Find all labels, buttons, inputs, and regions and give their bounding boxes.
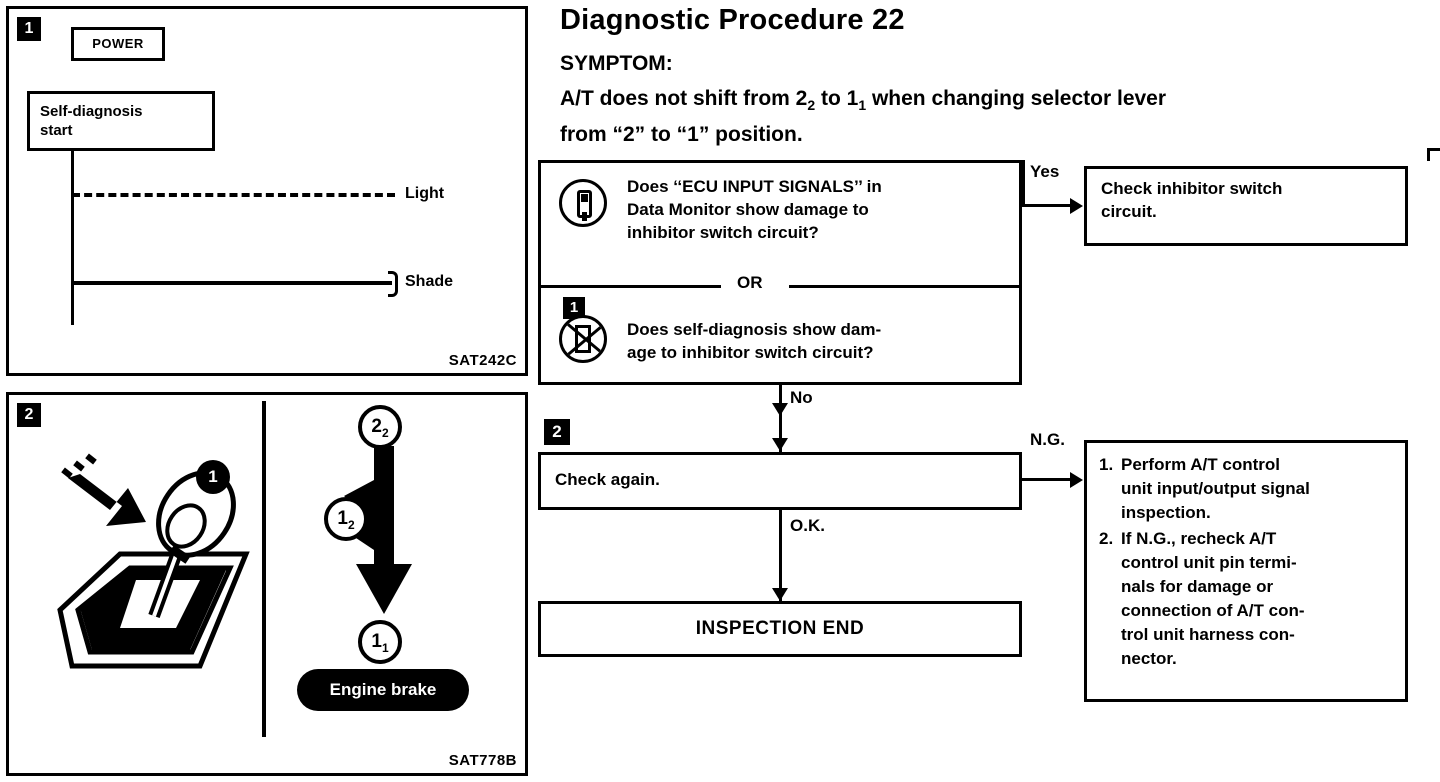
gear-from-sub: 2 bbox=[382, 426, 389, 440]
ok-label: O.K. bbox=[790, 516, 825, 536]
ng-actions-list: 1. Perform A/T control unit input/output… bbox=[1087, 443, 1405, 671]
panel-2-divider bbox=[262, 401, 266, 737]
timing-vertical-stem bbox=[71, 151, 74, 325]
yes-branch-vertical bbox=[1022, 160, 1025, 206]
symptom-label: SYMPTOM: bbox=[560, 52, 673, 76]
panel-2-badge: 2 bbox=[17, 403, 41, 427]
gear-to: 1 bbox=[371, 631, 382, 652]
gear-badge-1-1: 11 bbox=[358, 620, 402, 664]
illustration-panel-1: 1 POWER Self-diagnosis start Light Shade… bbox=[6, 6, 528, 376]
engine-brake-label: Engine brake bbox=[297, 669, 469, 711]
symptom-text: A/T does not shift from 22 to 11 when ch… bbox=[560, 84, 1440, 150]
ng-branch-horizontal bbox=[1022, 478, 1072, 481]
symptom-part-a: A/T does not shift from 2 bbox=[560, 87, 807, 110]
consult-question-line2: Data Monitor show damage to bbox=[627, 198, 1007, 221]
consult-tool-screen bbox=[581, 194, 588, 202]
symptom-sub-2: 1 bbox=[858, 97, 866, 113]
decision-box: Does ‘‘ECU INPUT SIGNALS’’ in Data Monit… bbox=[538, 160, 1022, 385]
no-label: No bbox=[790, 388, 813, 408]
symptom-sub-1: 2 bbox=[807, 97, 815, 113]
ng-label: N.G. bbox=[1030, 430, 1065, 450]
list-item: 2. If N.G., recheck A/T control unit pin… bbox=[1099, 527, 1395, 671]
check-inhibitor-line2: circuit. bbox=[1101, 200, 1405, 223]
no-branch-arrowhead-lower bbox=[772, 438, 788, 451]
ng-branch-arrowhead bbox=[1070, 472, 1083, 488]
shade-waveform-line bbox=[72, 281, 392, 285]
or-rule-right bbox=[789, 285, 1019, 288]
consult-question: Does ‘‘ECU INPUT SIGNALS’’ in Data Monit… bbox=[627, 175, 1007, 244]
symptom-part-b: to 1 bbox=[815, 87, 858, 110]
push-arrow-icon bbox=[61, 454, 146, 526]
self-diagnosis-icon bbox=[559, 315, 607, 363]
ng-item-2-text: If N.G., recheck A/T control unit pin te… bbox=[1121, 527, 1305, 671]
or-rule-left bbox=[541, 285, 721, 288]
gear-mid-sub: 2 bbox=[348, 518, 355, 532]
or-label: OR bbox=[737, 273, 763, 293]
consult-question-line1: Does ‘‘ECU INPUT SIGNALS’’ in bbox=[627, 175, 1007, 198]
inspection-end-text: INSPECTION END bbox=[541, 604, 1019, 654]
ng-item-1-line1: Perform A/T control bbox=[1121, 455, 1280, 474]
light-waveform-line bbox=[72, 193, 395, 197]
check-again-box: Check again. bbox=[538, 452, 1022, 510]
symptom-line-2: from “2” to “1” position. bbox=[560, 120, 1440, 150]
ng-item-2-line6: nector. bbox=[1121, 649, 1177, 668]
shade-bracket-tick bbox=[388, 271, 398, 297]
step-marker-1: 1 bbox=[196, 460, 230, 494]
ng-item-2-line4: connection of A/T con- bbox=[1121, 601, 1305, 620]
consult-tool-plug bbox=[582, 212, 587, 221]
check-inhibitor-switch-box: Check inhibitor switch circuit. bbox=[1084, 166, 1408, 246]
figure-code-1: SAT242C bbox=[449, 352, 517, 369]
self-diagnosis-question-line1: Does self-diagnosis show dam- bbox=[627, 318, 1012, 341]
ng-item-2-line2: control unit pin termi- bbox=[1121, 553, 1297, 572]
ok-branch-arrowhead bbox=[772, 588, 788, 601]
page-title: Diagnostic Procedure 22 bbox=[560, 4, 905, 37]
consult-tool-icon bbox=[559, 179, 607, 227]
panel-1-badge: 1 bbox=[17, 17, 41, 41]
self-diagnosis-start-box: Self-diagnosis start bbox=[27, 91, 215, 151]
ng-item-2-line3: nals for damage or bbox=[1121, 577, 1273, 596]
consult-question-line3: inhibitor switch circuit? bbox=[627, 221, 1007, 244]
or-separator: OR bbox=[541, 273, 1019, 299]
ng-item-2-line5: trol unit harness con- bbox=[1121, 625, 1295, 644]
gear-from: 2 bbox=[371, 416, 382, 437]
self-diagnosis-start-line2: start bbox=[40, 121, 212, 140]
gear-badge-2-2: 22 bbox=[358, 405, 402, 449]
no-branch-arrowhead-upper bbox=[772, 403, 788, 416]
ng-item-1-line3: inspection. bbox=[1121, 503, 1211, 522]
self-diagnosis-question: Does self-diagnosis show dam- age to inh… bbox=[627, 318, 1012, 364]
gear-mid: 1 bbox=[337, 508, 348, 529]
yes-label: Yes bbox=[1030, 162, 1059, 182]
check-inhibitor-line1: Check inhibitor switch bbox=[1101, 177, 1405, 200]
inspection-end-box: INSPECTION END bbox=[538, 601, 1022, 657]
check-inhibitor-switch-text: Check inhibitor switch circuit. bbox=[1087, 169, 1405, 223]
step-2-badge: 2 bbox=[544, 419, 570, 445]
self-diagnosis-question-line2: age to inhibitor switch circuit? bbox=[627, 341, 1012, 364]
ng-item-2-line1: If N.G., recheck A/T bbox=[1121, 529, 1276, 548]
ng-item-2-number: 2. bbox=[1099, 527, 1121, 671]
list-item: 1. Perform A/T control unit input/output… bbox=[1099, 453, 1395, 525]
figure-code-2: SAT778B bbox=[449, 752, 517, 769]
ng-item-1-line2: unit input/output signal bbox=[1121, 479, 1310, 498]
gear-to-sub: 1 bbox=[382, 641, 389, 655]
gear-badge-1-2: 12 bbox=[324, 497, 368, 541]
self-diagnosis-start-line1: Self-diagnosis bbox=[40, 102, 212, 121]
ng-item-1-number: 1. bbox=[1099, 453, 1121, 525]
registration-tick-v bbox=[1427, 148, 1430, 161]
power-label-box: POWER bbox=[71, 27, 165, 61]
service-manual-page: 1 POWER Self-diagnosis start Light Shade… bbox=[0, 0, 1440, 782]
yes-branch-horizontal bbox=[1022, 204, 1072, 207]
ng-item-1-text: Perform A/T control unit input/output si… bbox=[1121, 453, 1310, 525]
check-again-text: Check again. bbox=[541, 455, 1019, 491]
shade-label: Shade bbox=[405, 273, 453, 291]
symptom-part-c: when changing selector lever bbox=[866, 87, 1166, 110]
yes-branch-arrowhead bbox=[1070, 198, 1083, 214]
light-label: Light bbox=[405, 185, 444, 203]
ng-actions-box: 1. Perform A/T control unit input/output… bbox=[1084, 440, 1408, 702]
